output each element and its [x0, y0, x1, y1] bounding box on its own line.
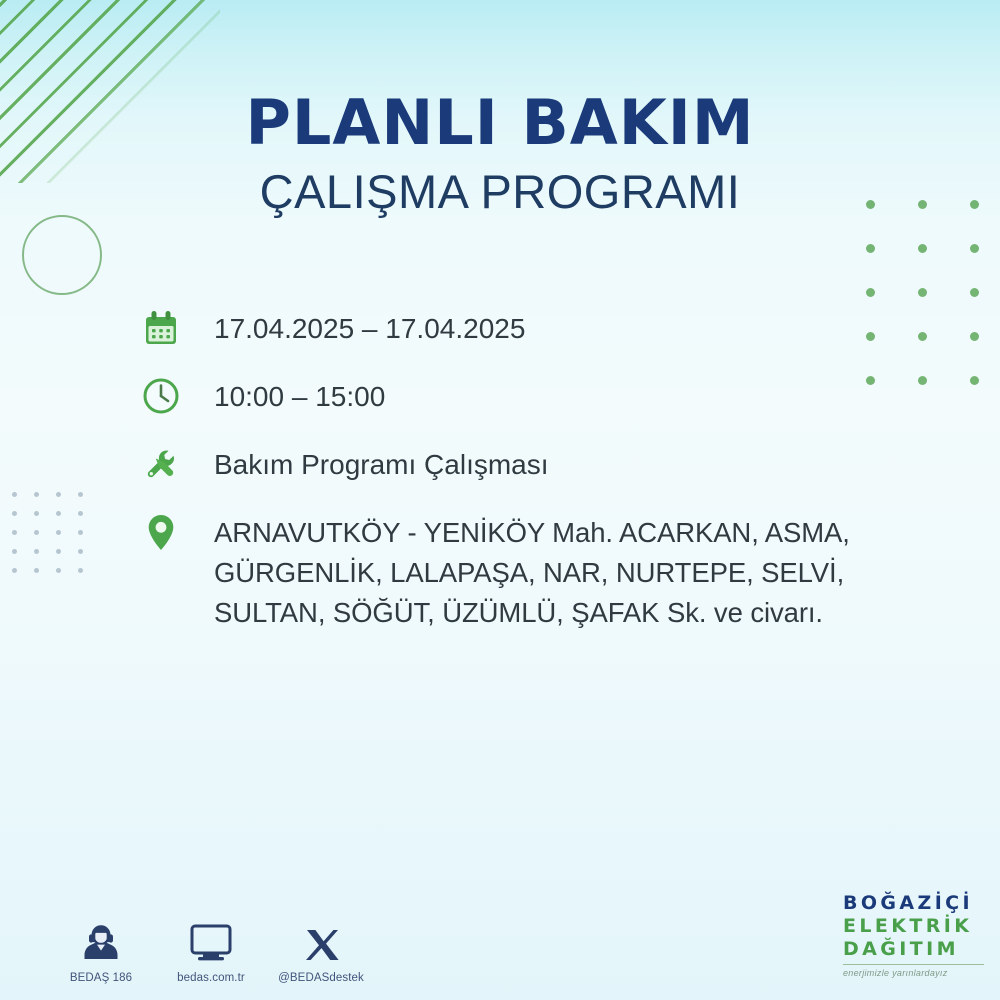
- footer-contacts: BEDAŞ 186 bedas.com.tr @BEDASdestek: [46, 917, 376, 984]
- decoration-dot: [12, 530, 17, 535]
- info-row-work-type: Bakım Programı Çalışması: [138, 441, 938, 487]
- decoration-dot: [918, 288, 927, 297]
- contact-x-label: @BEDASdestek: [266, 972, 376, 984]
- dot-grid-left-decoration: [12, 492, 97, 582]
- decoration-dot: [970, 376, 979, 385]
- decoration-dot: [34, 492, 39, 497]
- decoration-dot: [970, 288, 979, 297]
- brand-logo: BOĞAZİÇİ ELEKTRİK DAĞITIM enerjimizle ya…: [843, 894, 984, 978]
- decoration-dot: [56, 549, 61, 554]
- decoration-dot: [78, 511, 83, 516]
- decoration-dot: [866, 288, 875, 297]
- brand-divider: [843, 964, 984, 965]
- brand-line-1: BOĞAZİÇİ: [843, 894, 984, 913]
- map-pin-icon: [138, 509, 184, 555]
- decoration-dot: [78, 530, 83, 535]
- decoration-dot: [78, 492, 83, 497]
- work-type-text: Bakım Programı Çalışması: [214, 441, 549, 486]
- decoration-dot: [918, 244, 927, 253]
- decoration-dot: [78, 549, 83, 554]
- decoration-dot: [34, 568, 39, 573]
- info-row-location: ARNAVUTKÖY - YENİKÖY Mah. ACARKAN, ASMA,…: [138, 509, 938, 633]
- contact-x[interactable]: @BEDASdestek: [266, 917, 376, 984]
- page-subtitle: ÇALIŞMA PROGRAMI: [0, 168, 1000, 215]
- contact-phone-label: BEDAŞ 186: [46, 972, 156, 984]
- info-row-time: 10:00 – 15:00: [138, 373, 938, 419]
- decoration-dot: [34, 549, 39, 554]
- circle-outline-decoration: [22, 215, 102, 295]
- decoration-dot: [34, 530, 39, 535]
- brand-line-2: ELEKTRİK: [843, 917, 984, 936]
- decoration-dot: [56, 492, 61, 497]
- support-agent-icon: [46, 917, 156, 965]
- decoration-dot: [56, 511, 61, 516]
- decoration-dot: [12, 511, 17, 516]
- decoration-dot: [78, 568, 83, 573]
- tools-icon: [138, 441, 184, 487]
- contact-website[interactable]: bedas.com.tr: [156, 917, 266, 984]
- contact-phone[interactable]: BEDAŞ 186: [46, 917, 156, 984]
- x-logo-icon: [266, 917, 376, 965]
- poster-header: PLANLI BAKIM ÇALIŞMA PROGRAMI: [0, 92, 1000, 215]
- clock-icon: [138, 373, 184, 419]
- contact-website-label: bedas.com.tr: [156, 972, 266, 984]
- info-list: 17.04.2025 – 17.04.2025 10:00 – 15:00: [138, 305, 938, 633]
- poster-canvas: PLANLI BAKIM ÇALIŞMA PROGRAMI: [0, 0, 1000, 1000]
- decoration-dot: [56, 530, 61, 535]
- decoration-dot: [970, 244, 979, 253]
- calendar-icon: [138, 305, 184, 351]
- decoration-dot: [56, 568, 61, 573]
- brand-tagline: enerjimizle yarınlardayız: [843, 969, 984, 978]
- decoration-dot: [34, 511, 39, 516]
- decoration-dot: [12, 549, 17, 554]
- brand-line-3: DAĞITIM: [843, 940, 984, 959]
- time-range-text: 10:00 – 15:00: [214, 373, 385, 418]
- page-title: PLANLI BAKIM: [0, 92, 1000, 154]
- decoration-dot: [12, 492, 17, 497]
- decoration-dot: [866, 244, 875, 253]
- location-text: ARNAVUTKÖY - YENİKÖY Mah. ACARKAN, ASMA,…: [214, 509, 938, 633]
- decoration-dot: [970, 332, 979, 341]
- decoration-dot: [12, 568, 17, 573]
- monitor-icon: [156, 917, 266, 965]
- date-range-text: 17.04.2025 – 17.04.2025: [214, 305, 525, 350]
- info-row-date: 17.04.2025 – 17.04.2025: [138, 305, 938, 351]
